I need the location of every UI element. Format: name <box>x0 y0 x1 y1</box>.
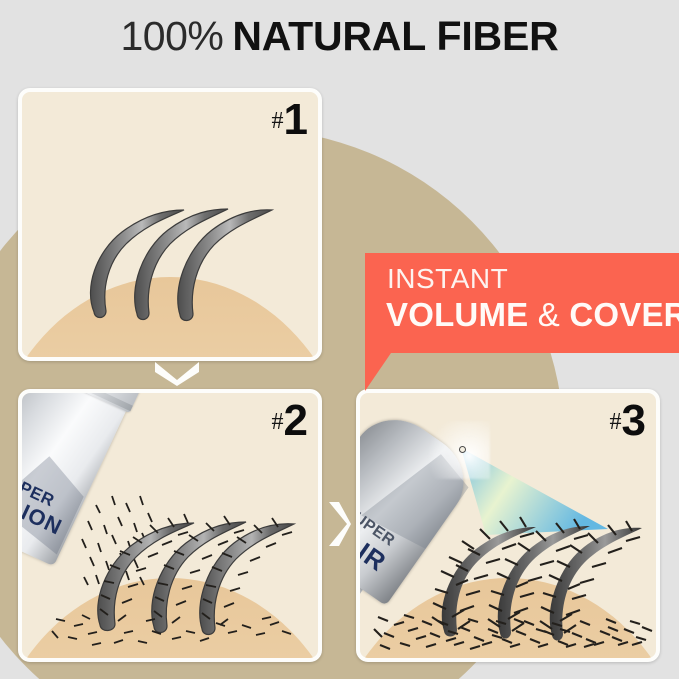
step-panel-3: SUPER HAIR <box>356 389 660 662</box>
step-panel-2: SUPER MILLION <box>18 389 322 662</box>
page-title: 100%NATURAL FIBER <box>0 16 679 57</box>
scattered-fiber-icon <box>52 615 291 645</box>
spray-mist-icon <box>420 421 490 479</box>
banner-ampersand: & <box>538 296 560 333</box>
promo-banner: INSTANT VOLUME & COVERAGE <box>365 253 679 353</box>
hair-strand-icon <box>98 523 194 631</box>
step-number-3: #3 <box>610 399 646 443</box>
title-percent: 100% <box>120 13 223 59</box>
hair-strand-icon <box>498 526 590 639</box>
step-digit: 2 <box>284 396 308 445</box>
hash-symbol: # <box>272 409 284 435</box>
step-number-2: #2 <box>272 399 308 443</box>
infographic-canvas: 100%NATURAL FIBER <box>0 0 679 679</box>
hash-symbol: # <box>610 409 622 435</box>
title-main: NATURAL FIBER <box>232 13 558 59</box>
banner-coverage: COVERAGE <box>569 296 679 333</box>
spray-nozzle-dot-icon <box>459 446 466 453</box>
step-number-1: #1 <box>272 98 308 142</box>
banner-volume: VOLUME <box>386 296 528 333</box>
hair-strand-icon <box>152 522 246 633</box>
step-digit: 3 <box>622 396 646 445</box>
hair-strand-icon <box>200 524 294 635</box>
chevron-right-icon <box>325 500 351 548</box>
banner-tail <box>365 353 391 391</box>
banner-line-2: VOLUME & COVERAGE <box>386 298 679 331</box>
hair-strand-icon <box>550 528 642 641</box>
chevron-down-icon <box>153 358 201 386</box>
hash-symbol: # <box>272 108 284 134</box>
scattered-fiber-icon <box>374 615 652 649</box>
step-panel-1: #1 <box>18 88 322 361</box>
step-digit: 1 <box>284 95 308 144</box>
banner-line-1: INSTANT <box>387 265 508 293</box>
